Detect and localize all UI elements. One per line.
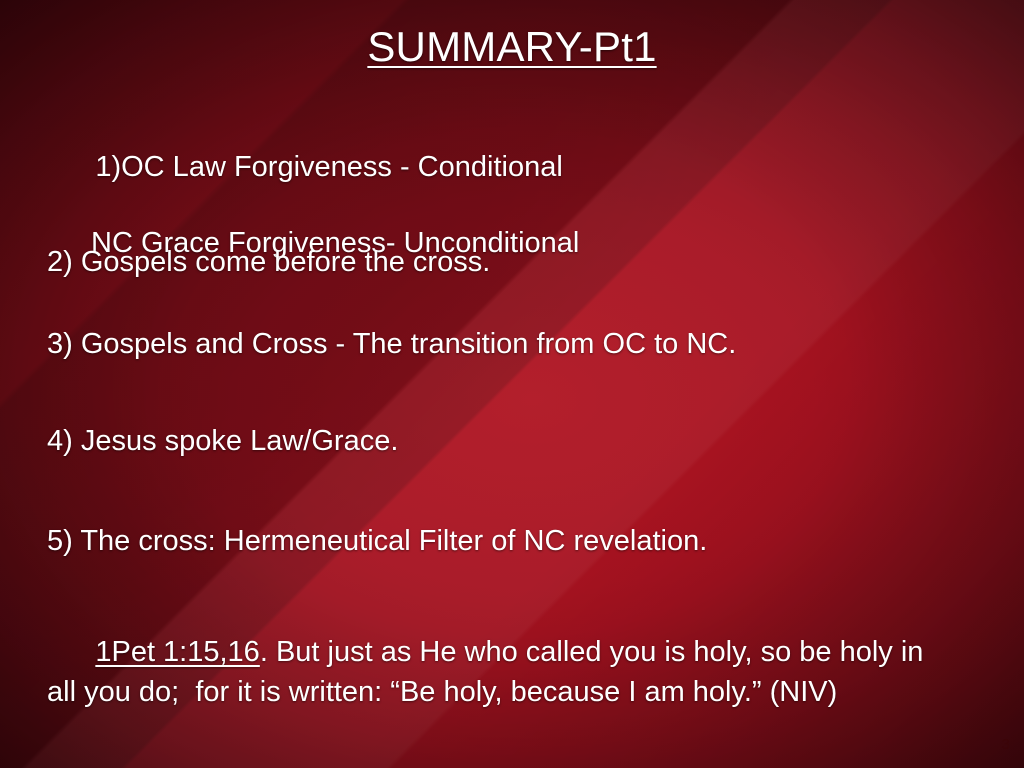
presentation-slide: SUMMARY-Pt1 1)OC Law Forgiveness - Condi… (0, 0, 1024, 768)
slide-number: 3 (1002, 736, 1010, 754)
scripture-reference: 1Pet 1:15,16 (95, 636, 259, 668)
slide-content: SUMMARY-Pt1 1)OC Law Forgiveness - Condi… (0, 0, 1024, 768)
summary-point-3: 3) Gospels and Cross - The transition fr… (47, 325, 736, 363)
summary-point-4: 4) Jesus spoke Law/Grace. (47, 422, 398, 460)
scripture-quote: 1Pet 1:15,16. But just as He who called … (47, 592, 952, 752)
summary-point-2: 2) Gospels come before the cross. (47, 243, 490, 281)
summary-point-5: 5) The cross: Hermeneutical Filter of NC… (47, 522, 707, 560)
slide-title: SUMMARY-Pt1 (0, 22, 1024, 72)
summary-point-1: 1)OC Law Forgiveness - Conditional NC Gr… (47, 110, 579, 338)
summary-point-1-line-1: 1)OC Law Forgiveness - Conditional (95, 151, 562, 183)
